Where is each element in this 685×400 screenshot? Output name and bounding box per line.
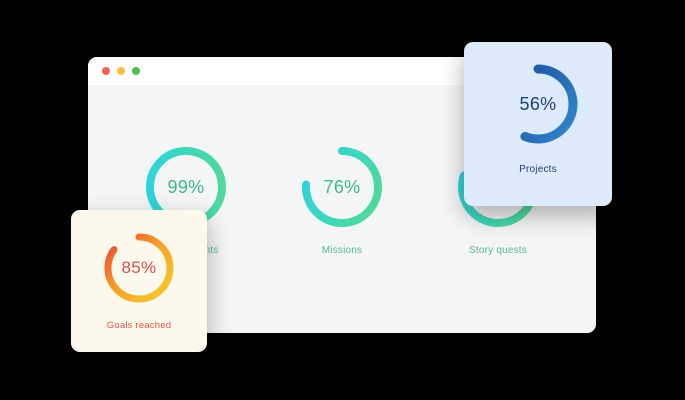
maximize-dot[interactable] xyxy=(132,67,140,75)
donut-value-missions: 76% xyxy=(298,143,386,231)
close-dot[interactable] xyxy=(102,67,110,75)
stat-label-story-quests: Story quests xyxy=(469,245,527,256)
donut-chart-goals-reached: 85% xyxy=(100,229,178,307)
donut-chart-projects: 56% xyxy=(493,59,583,149)
donut-value-projects: 56% xyxy=(493,59,583,149)
window-controls xyxy=(102,67,140,75)
minimize-dot[interactable] xyxy=(117,67,125,75)
card-projects[interactable]: 56% Projects xyxy=(464,42,612,206)
donut-chart-missions: 76% xyxy=(298,143,386,231)
card-label-projects: Projects xyxy=(519,164,557,175)
card-label-goals-reached: Goals reached xyxy=(107,320,171,331)
stat-label-missions: Missions xyxy=(322,245,363,256)
page-root: 99% Achievements xyxy=(0,0,685,400)
donut-value-goals-reached: 85% xyxy=(100,229,178,307)
stat-missions[interactable]: 76% Missions xyxy=(278,143,406,256)
card-goals-reached[interactable]: 85% Goals reached xyxy=(71,210,207,352)
